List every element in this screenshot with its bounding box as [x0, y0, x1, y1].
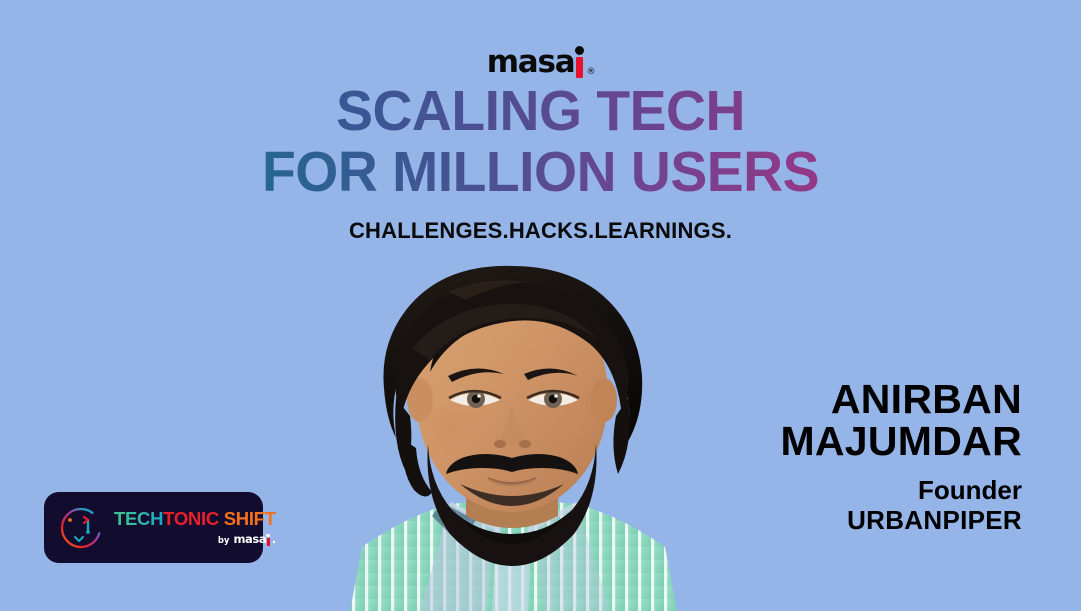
masai-i-dot-icon [575, 46, 584, 55]
badge-text-group: TECHTONIC SHIFT by masa . [114, 510, 276, 546]
headline-subtitle: CHALLENGES.HACKS.LEARNINGS. [0, 218, 1081, 244]
presentation-slide: masa ® SCALING TECH FOR MILLION USERS CH… [0, 0, 1081, 611]
techtonic-shift-badge: TECHTONIC SHIFT by masa . [44, 492, 263, 563]
badge-title-tonic: TONIC [163, 508, 219, 529]
badge-title-shift: SHIFT [219, 508, 276, 529]
headline-group: SCALING TECH FOR MILLION USERS [0, 84, 1081, 201]
badge-masai-text: masa [233, 534, 266, 546]
badge-by-masai: by masa . [114, 534, 276, 546]
speaker-info-block: ANIRBAN MAJUMDAR Founder URBANPIPER [692, 378, 1022, 535]
masai-wordmark: masa ® [487, 47, 595, 78]
portrait-illustration [300, 248, 724, 611]
headline-line-1: SCALING TECH [16, 84, 1065, 140]
masai-wordmark-text: masa [487, 47, 575, 78]
badge-by-label: by [218, 537, 230, 546]
speaker-portrait-photo [300, 248, 724, 611]
badge-masai-wordmark: masa . [233, 534, 275, 546]
techtonic-t-circle-icon [57, 504, 105, 552]
speaker-company: URBANPIPER [692, 506, 1022, 535]
badge-title: TECHTONIC SHIFT [114, 510, 276, 529]
badge-masai-i-dot-icon [266, 534, 270, 538]
badge-masai-i-stem-icon [267, 538, 270, 546]
speaker-last-name: MAJUMDAR [692, 420, 1022, 462]
speaker-first-name: ANIRBAN [692, 378, 1022, 420]
registered-trademark-icon: ® [586, 68, 594, 77]
masai-i-stem-icon [576, 57, 583, 78]
masai-brand-logo: masa ® [0, 44, 1081, 78]
speaker-role: Founder [692, 476, 1022, 505]
badge-title-tech: TECH [114, 508, 163, 529]
badge-masai-period: . [272, 534, 276, 546]
badge-masai-i-icon [266, 534, 271, 546]
headline-line-2: FOR MILLION USERS [16, 145, 1065, 201]
masai-i-letter-icon [574, 47, 585, 78]
